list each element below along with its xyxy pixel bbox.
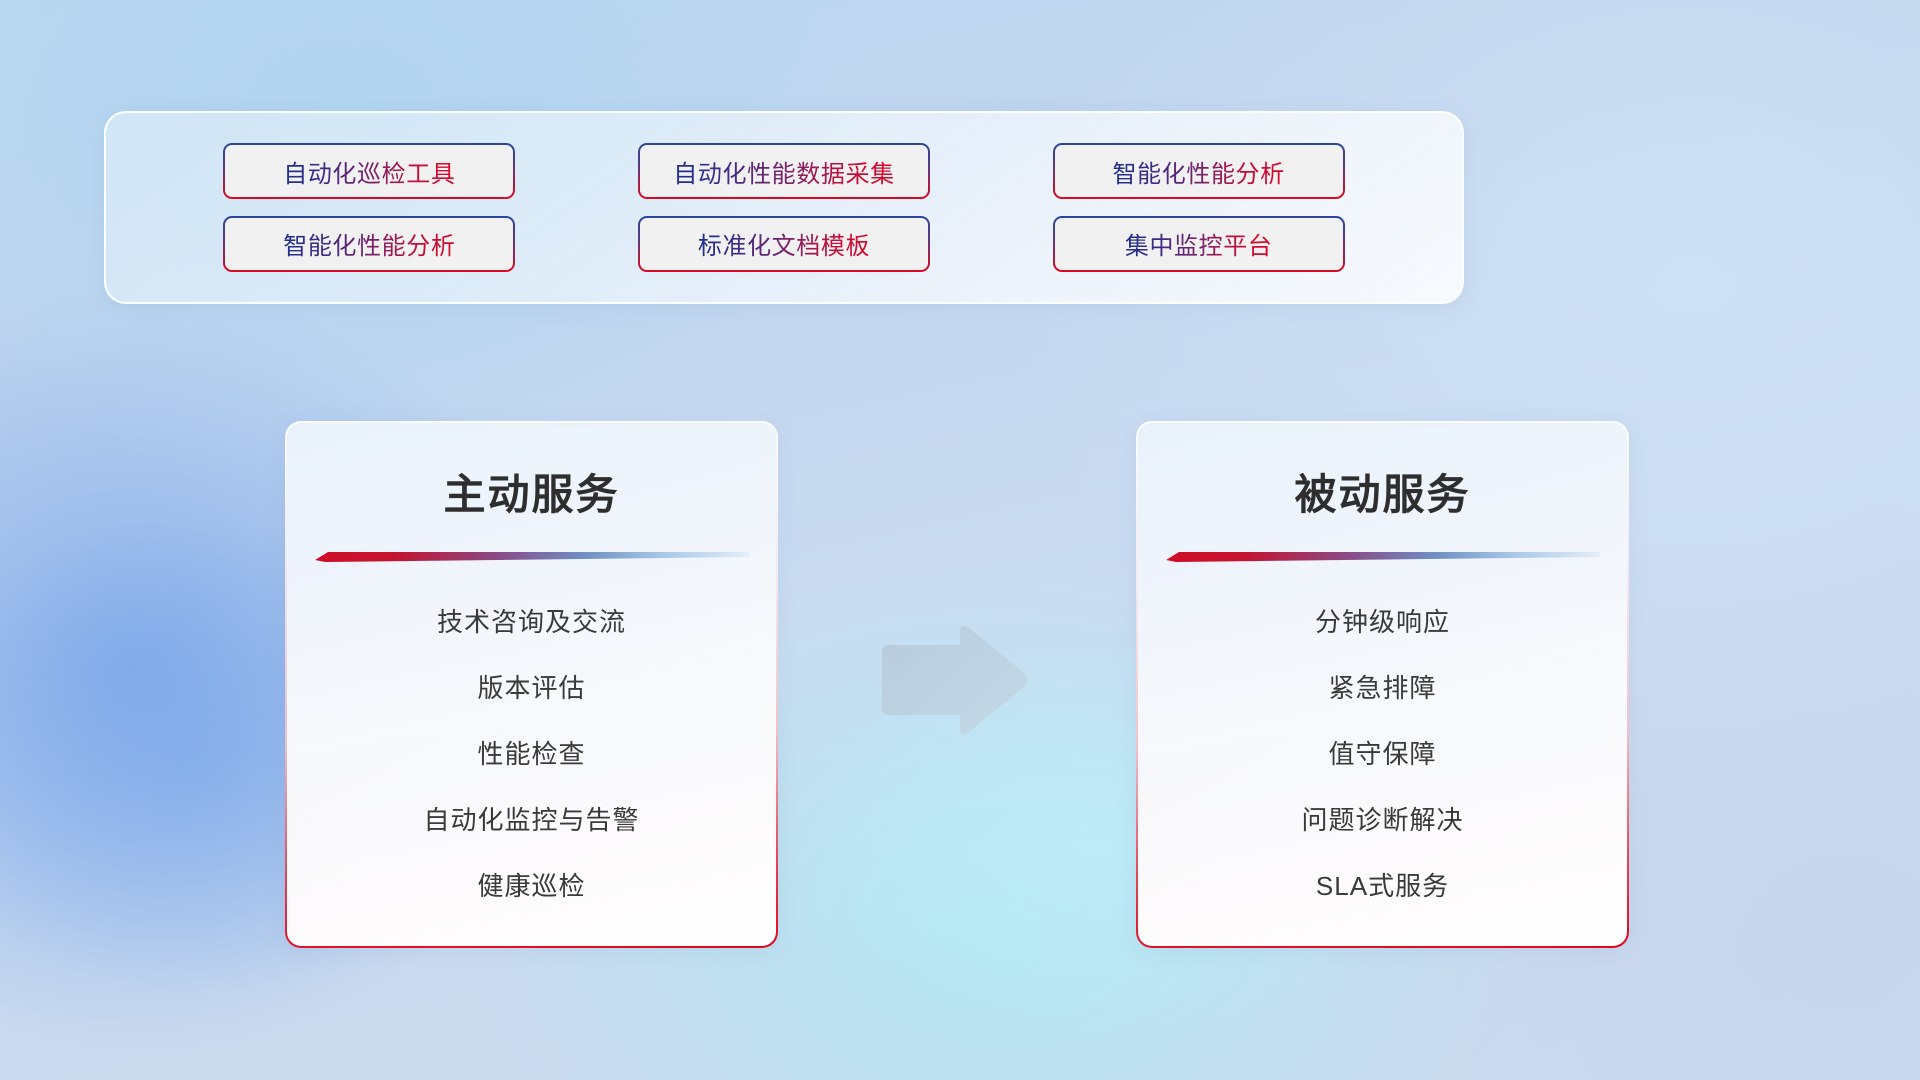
capability-pill[interactable]: 智能化性能分析: [223, 216, 515, 272]
capabilities-panel: 自动化巡检工具 自动化性能数据采集 智能化性能分析 智能化性能分析 标准化文档模…: [104, 111, 1464, 304]
card-item-list: 技术咨询及交流 版本评估 性能检查 自动化监控与告警 健康巡检: [287, 589, 776, 919]
capability-pill-label: 集中监控平台: [1125, 226, 1273, 261]
capability-pill-label: 智能化性能分析: [1113, 154, 1285, 189]
service-item: 紧急排障: [1328, 655, 1436, 721]
capability-pill[interactable]: 自动化性能数据采集: [638, 143, 930, 199]
reactive-service-card: 被动服务 分钟级响应 紧急排障 值守保障 问题诊断解决 SLA式服务: [1136, 421, 1629, 948]
service-item: 版本评估: [477, 655, 585, 721]
service-item: 自动化监控与告警: [423, 787, 639, 853]
service-item: 健康巡检: [477, 853, 585, 919]
card-divider: [1166, 550, 1600, 563]
service-item: 技术咨询及交流: [437, 589, 626, 655]
arrow-right-icon: [874, 622, 1030, 738]
service-item: 性能检查: [477, 721, 585, 787]
capability-pill[interactable]: 智能化性能分析: [1053, 143, 1345, 199]
card-title: 主动服务: [443, 461, 619, 522]
card-divider: [315, 550, 749, 563]
capability-pill-label: 智能化性能分析: [283, 226, 455, 261]
service-item: 值守保障: [1328, 721, 1436, 787]
card-item-list: 分钟级响应 紧急排障 值守保障 问题诊断解决 SLA式服务: [1138, 589, 1627, 919]
card-title: 被动服务: [1294, 461, 1470, 522]
service-item: 问题诊断解决: [1301, 787, 1463, 853]
capability-pill[interactable]: 集中监控平台: [1053, 216, 1345, 272]
capability-pill[interactable]: 标准化文档模板: [638, 216, 930, 272]
capability-pill-label: 标准化文档模板: [698, 226, 870, 261]
capability-pill-label: 自动化性能数据采集: [673, 154, 894, 189]
capability-pill[interactable]: 自动化巡检工具: [223, 143, 515, 199]
capability-pill-label: 自动化巡检工具: [283, 154, 455, 189]
service-item: 分钟级响应: [1315, 589, 1450, 655]
proactive-service-card: 主动服务 技术咨询及交流 版本评估 性能检查 自动化监控与告警 健康巡检: [285, 421, 778, 948]
service-item: SLA式服务: [1316, 853, 1449, 919]
